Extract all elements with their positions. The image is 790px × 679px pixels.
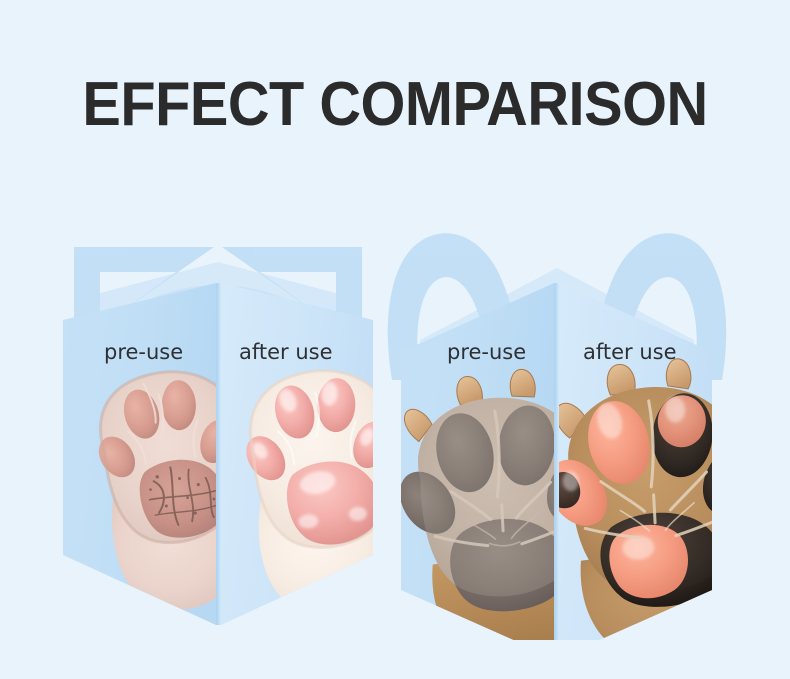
label-dog-pre-use: pre-use <box>447 342 526 363</box>
label-cat-after-use: after use <box>239 342 333 363</box>
bottom-fade <box>0 640 790 679</box>
label-cat-pre-use: pre-use <box>104 342 183 363</box>
dog-panel-seam <box>554 283 559 658</box>
label-dog-after-use: after use <box>583 342 677 363</box>
promo-banner: EFFECT COMPARISON pre-use after use pre-… <box>0 0 790 679</box>
page-title: EFFECT COMPARISON <box>28 74 763 136</box>
cat-panel-seam <box>216 283 221 625</box>
